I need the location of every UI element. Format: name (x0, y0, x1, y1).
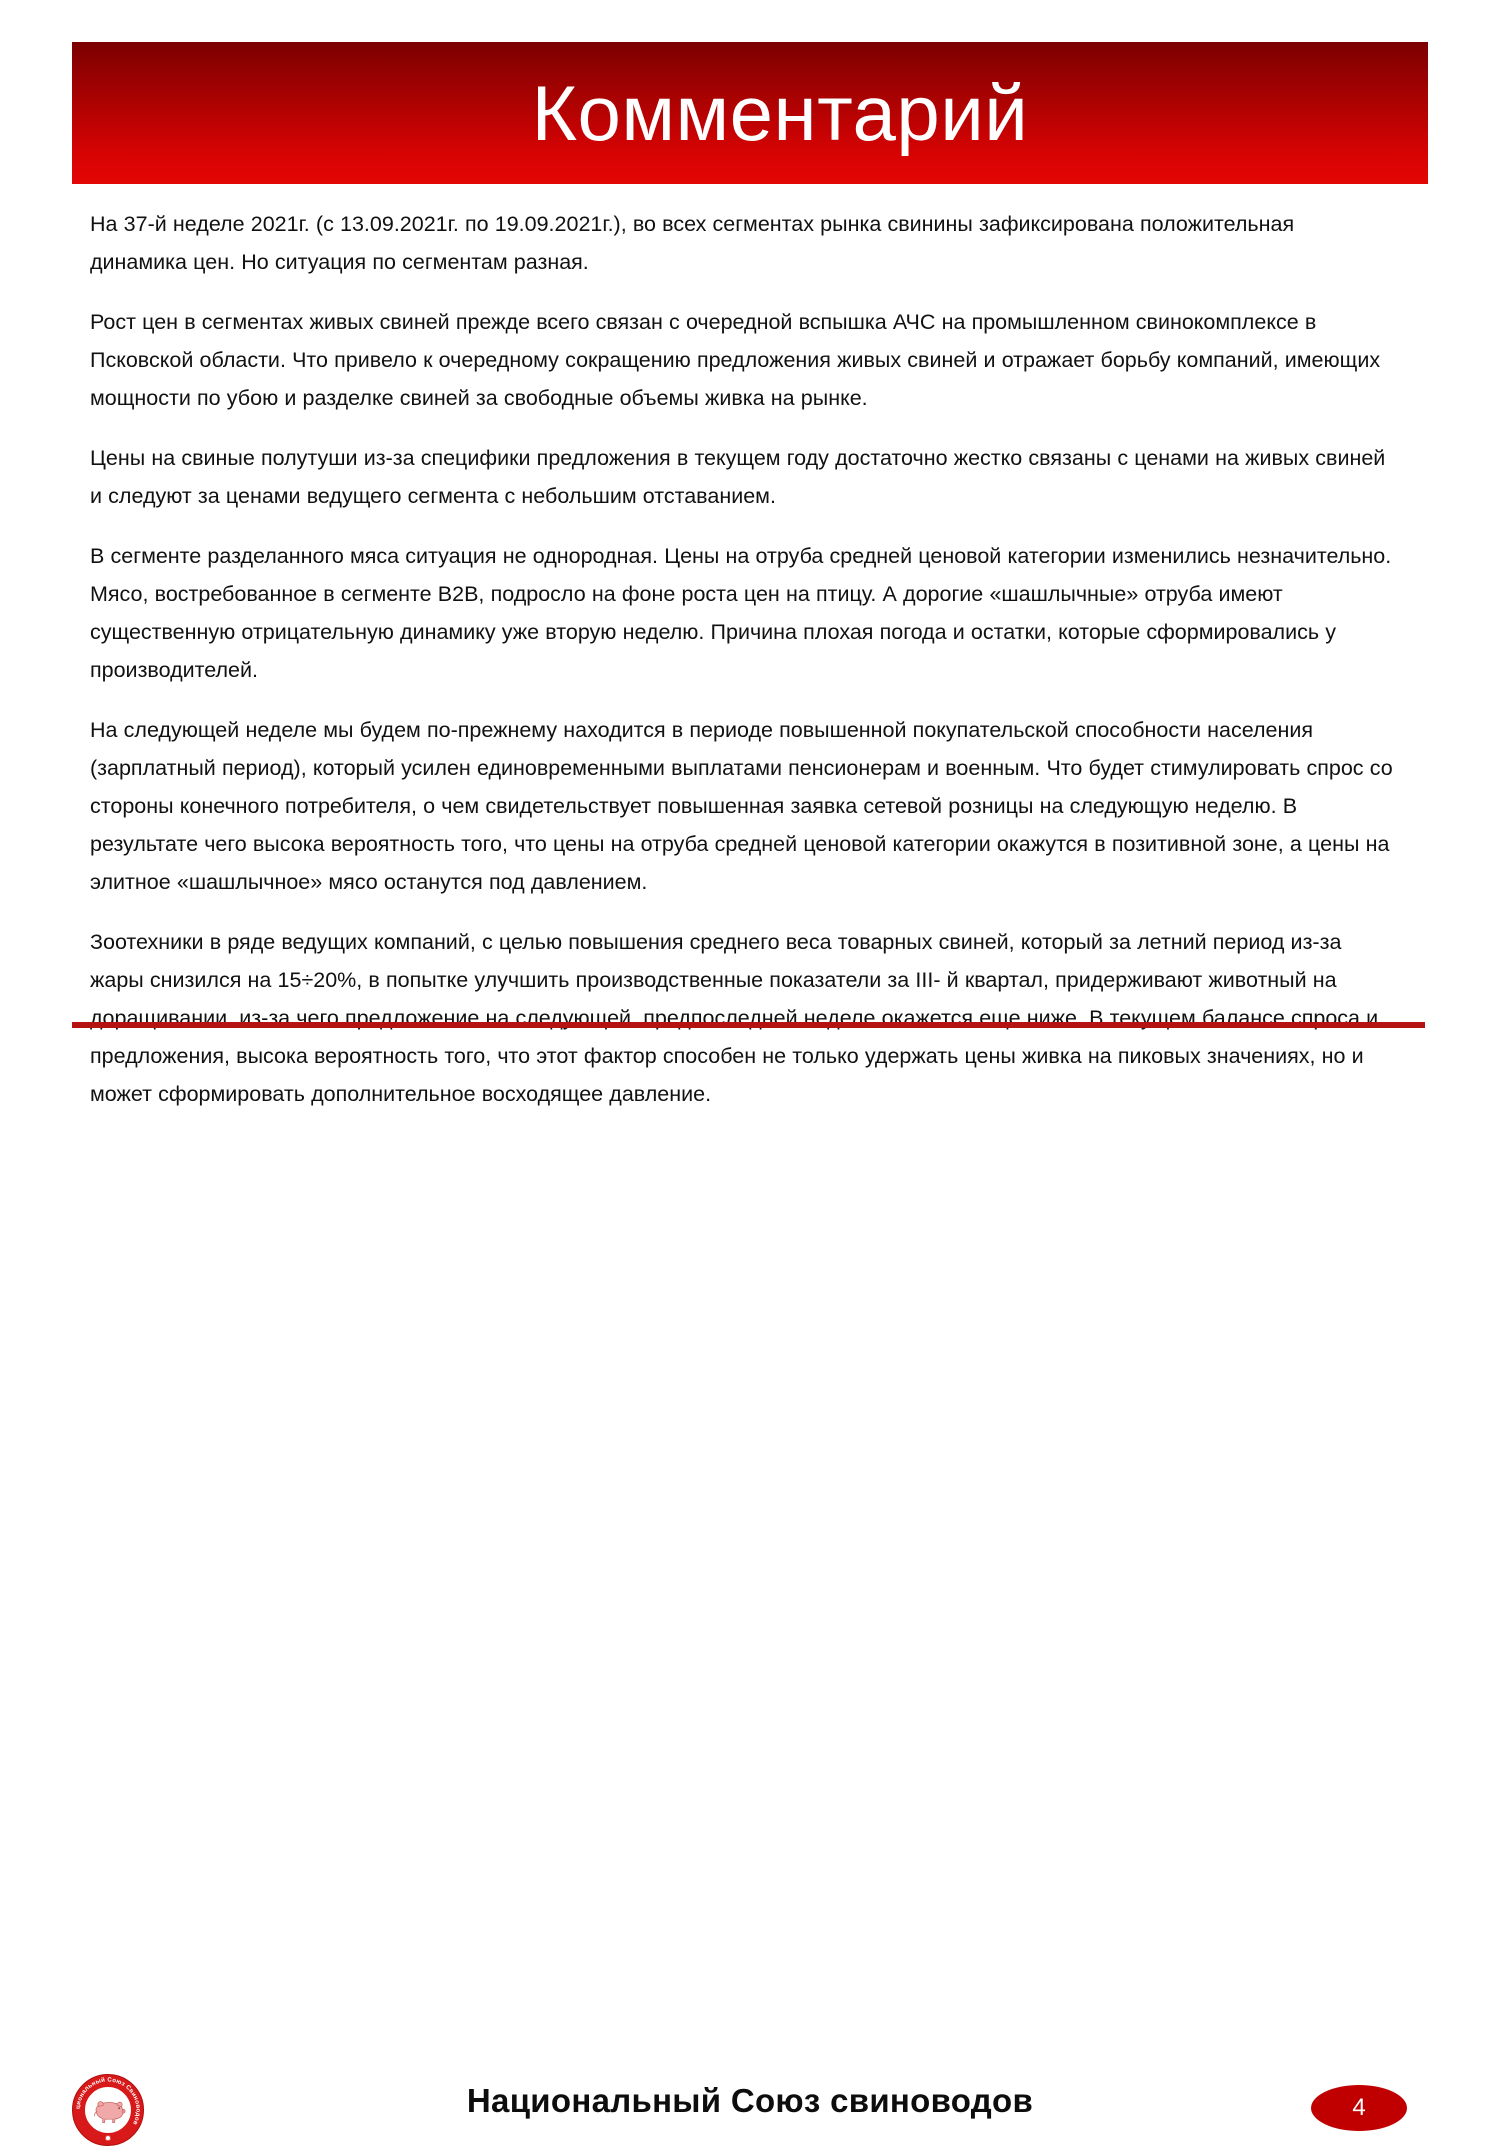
slide: Комментарий На 37-й неделе 2021г. (с 13.… (0, 0, 1500, 1125)
page-number: 4 (1352, 2096, 1365, 2120)
page-title: Комментарий (532, 74, 1029, 152)
footer-divider (72, 1022, 1425, 1028)
title-banner: Комментарий (72, 42, 1428, 184)
page-number-badge: 4 (1311, 2085, 1407, 2131)
paragraph-1: На 37-й неделе 2021г. (с 13.09.2021г. по… (90, 205, 1395, 281)
paragraph-2: Рост цен в сегментах живых свиней прежде… (90, 303, 1395, 417)
body-text: На 37-й неделе 2021г. (с 13.09.2021г. по… (90, 205, 1395, 1113)
paragraph-5: На следующей неделе мы будем по-прежнему… (90, 711, 1395, 901)
paragraph-3: Цены на свиные полутуши из-за специфики … (90, 439, 1395, 515)
organization-name: Национальный Союз свиноводов (0, 2082, 1500, 2120)
footer: Национальный Союз Свиноводов ✹ Националь… (0, 1034, 1500, 1125)
paragraph-4: В сегменте разделанного мяса ситуация не… (90, 537, 1395, 689)
logo-star-icon: ✹ (105, 2135, 112, 2143)
